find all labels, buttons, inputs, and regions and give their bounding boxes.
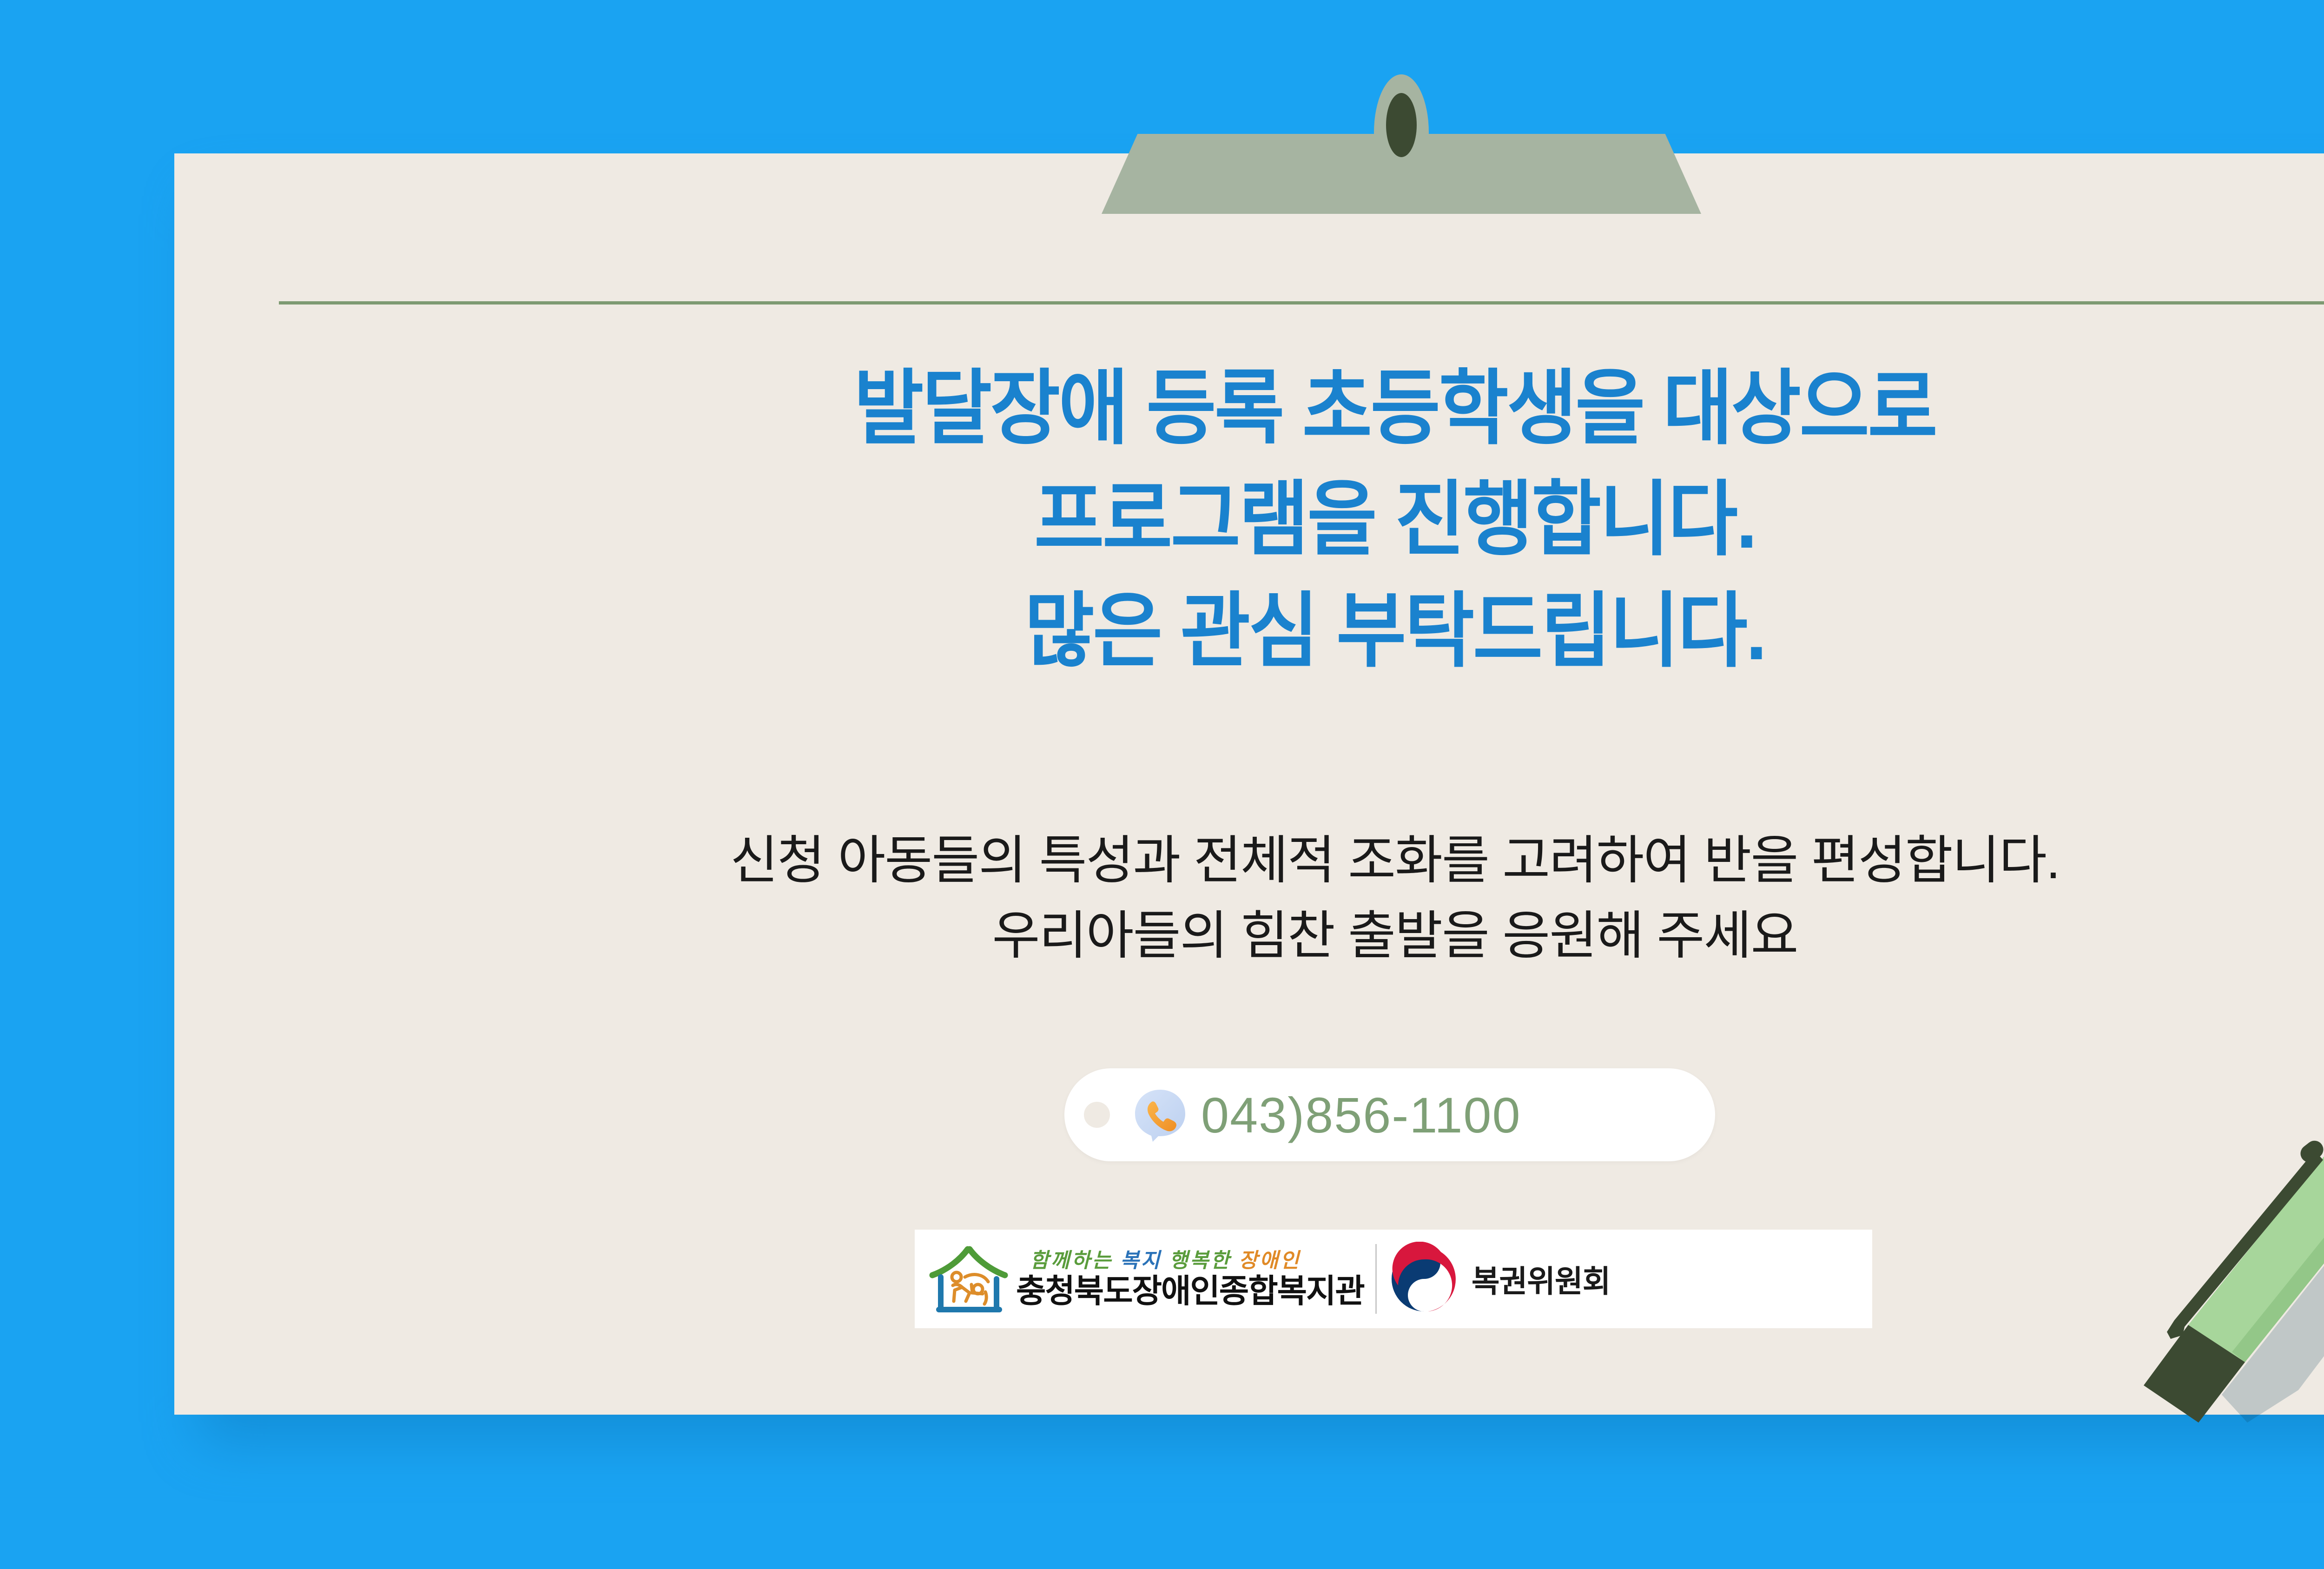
headline-line-2: 프로그램을 진행합니다. — [260, 464, 2324, 576]
clipboard-card — [174, 153, 2324, 1415]
logo-band: 함께하는 복지 행복한 장애인 충청북도장애인종합복지관 복권위원회 — [915, 1230, 1872, 1328]
headline-line-1: 발달장애 등록 초등학생을 대상으로 — [260, 353, 2324, 464]
clipboard-clip — [1102, 74, 1701, 214]
tagline-seg-3: 행복한 — [1169, 1249, 1231, 1272]
tagline-seg-1: 함께하는 — [1030, 1249, 1113, 1272]
clip-lobe-hole — [1386, 93, 1417, 157]
logo-government-body: 복권위원회 — [1472, 1257, 1611, 1301]
logo-divider — [1375, 1244, 1377, 1314]
headline-line-3: 많은 관심 부탁드립니다. — [260, 576, 2324, 687]
logo-text-block: 함께하는 복지 행복한 장애인 충청북도장애인종합복지관 — [1016, 1251, 1364, 1307]
logo-tagline: 함께하는 복지 행복한 장애인 — [1016, 1251, 1364, 1271]
divider-rule — [279, 301, 2324, 305]
logo-organization-name: 충청북도장애인종합복지관 — [1016, 1275, 1364, 1307]
subhead-line-2: 우리아들의 힘찬 출발을 응원해 주세요 — [174, 898, 2324, 973]
subhead-line-1: 신청 아동들의 특성과 전체적 조화를 고려하여 반을 편성합니다. — [174, 823, 2324, 898]
poster-canvas: 발달장애 등록 초등학생을 대상으로 프로그램을 진행합니다. 많은 관심 부탁… — [0, 0, 2324, 1569]
korea-government-taegeuk-icon — [1387, 1242, 1461, 1316]
headline-block: 발달장애 등록 초등학생을 대상으로 프로그램을 진행합니다. 많은 관심 부탁… — [260, 353, 2324, 687]
subhead-block: 신청 아동들의 특성과 전체적 조화를 고려하여 반을 편성합니다. 우리아들의… — [174, 823, 2324, 974]
phone-bubble-icon — [1130, 1085, 1190, 1145]
pill-bullet-dot — [1084, 1102, 1110, 1128]
phone-contact-pill[interactable]: 043)856-1100 — [1064, 1068, 1715, 1161]
phone-number-text: 043)856-1100 — [1201, 1086, 1521, 1144]
tagline-seg-4: 장애인 — [1239, 1249, 1301, 1272]
welfare-house-icon — [927, 1242, 1010, 1316]
tagline-seg-2: 복지 — [1120, 1249, 1162, 1272]
